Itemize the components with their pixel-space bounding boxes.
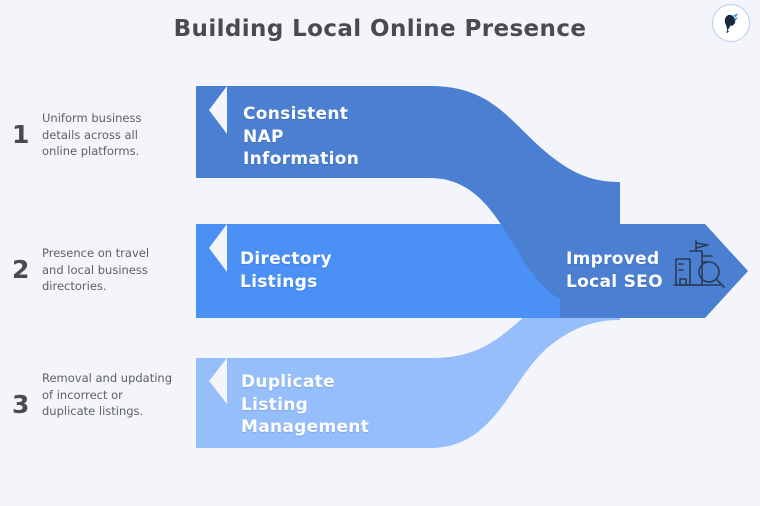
step-item-2: 2 Presence on travel and local business … [12,245,174,295]
band-label-duplicate-listing-management: Duplicate Listing Management [241,371,369,439]
band-3-shape [196,358,227,448]
band-label-improved-local-seo: Improved Local SEO [566,248,663,293]
step-number-2: 2 [12,257,42,282]
brand-logo-badge[interactable] [712,4,750,42]
step-description-1: Uniform business details across all onli… [42,110,174,160]
band-label-directory-listings: Directory Listings [240,248,332,293]
building-search-icon [672,239,728,293]
step-number-3: 3 [12,392,42,417]
step-description-2: Presence on travel and local business di… [42,245,174,295]
step-item-3: 3 Removal and updating of incorrect or d… [12,370,174,420]
infographic-canvas: Building Local Online Presence 1 Uniform… [0,0,760,506]
band-label-consistent-nap-information: Consistent NAP Information [243,103,359,171]
page-title: Building Local Online Presence [0,16,760,42]
brand-logo-icon [718,10,744,36]
band-2-shape [196,224,227,318]
band-1-shape [196,86,227,178]
step-item-1: 1 Uniform business details across all on… [12,110,174,160]
step-number-1: 1 [12,122,42,147]
step-description-3: Removal and updating of incorrect or dup… [42,370,174,420]
